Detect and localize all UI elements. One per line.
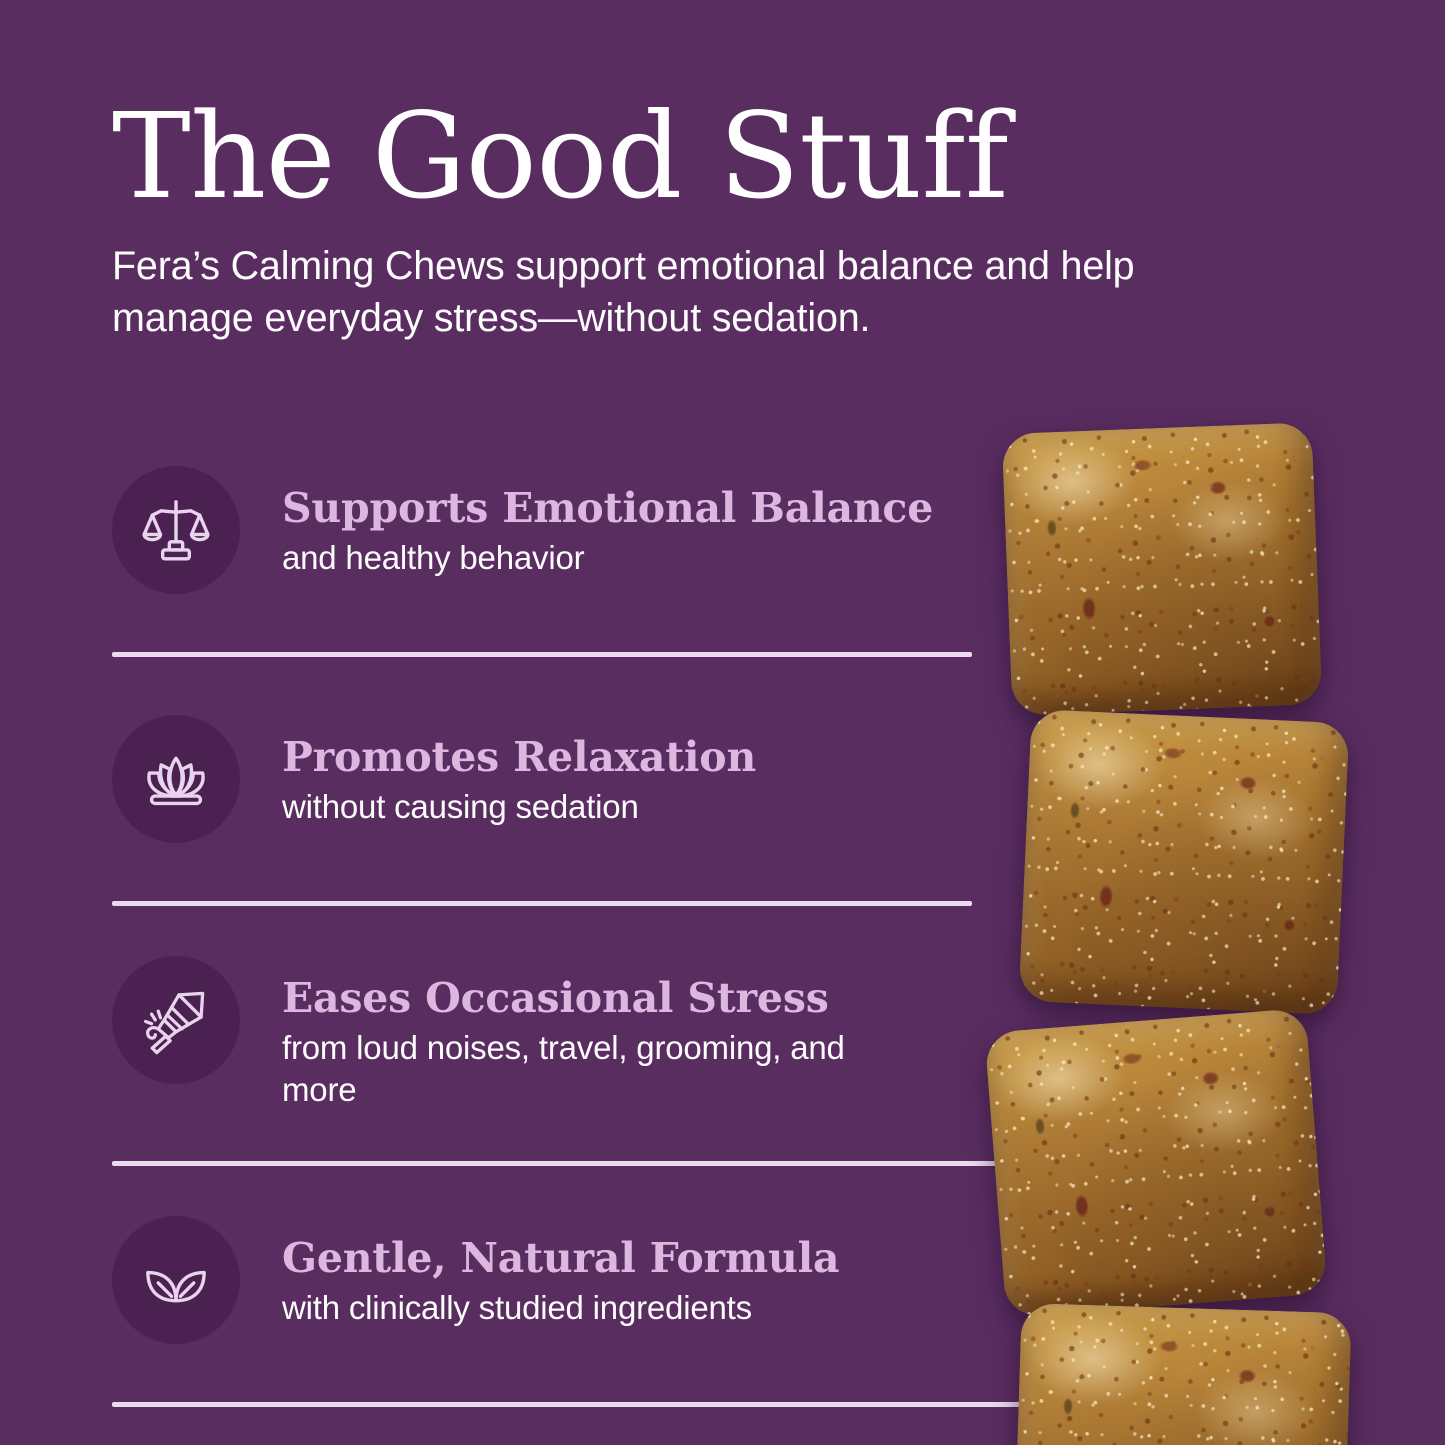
benefit-title: Promotes Relaxation	[282, 735, 756, 781]
page-subtitle: Fera’s Calming Chews support emotional b…	[112, 240, 1172, 345]
benefit-title: Gentle, Natural Formula	[282, 1236, 839, 1282]
benefit-subtitle: from loud noises, travel, grooming, and …	[282, 1027, 882, 1111]
firework-rocket-icon-badge	[112, 956, 240, 1084]
divider-4	[112, 1402, 1032, 1407]
lotus-flower-icon	[139, 742, 213, 816]
benefit-text: Promotes Relaxation without causing seda…	[282, 715, 756, 828]
header: The Good Stuff Fera’s Calming Chews supp…	[112, 96, 1242, 345]
leaves-icon-badge	[112, 1216, 240, 1344]
benefit-subtitle: without causing sedation	[282, 786, 756, 828]
leaves-icon	[139, 1243, 213, 1317]
page-title: The Good Stuff	[112, 96, 1242, 218]
benefit-text: Gentle, Natural Formula with clinically …	[282, 1216, 839, 1329]
balance-scale-icon	[139, 493, 213, 567]
balance-scale-icon-badge	[112, 466, 240, 594]
chew-piece	[1002, 422, 1323, 716]
benefit-title: Eases Occasional Stress	[282, 976, 882, 1022]
good-stuff-infographic: The Good Stuff Fera’s Calming Chews supp…	[0, 0, 1445, 1445]
benefit-subtitle: and healthy behavior	[282, 537, 922, 579]
benefit-subtitle: with clinically studied ingredients	[282, 1287, 839, 1329]
benefit-title: Supports Emotional Balance	[282, 486, 922, 532]
chew-piece	[1019, 709, 1350, 1015]
benefit-text: Supports Emotional Balance and healthy b…	[282, 466, 922, 579]
chew-piece	[1012, 1303, 1351, 1445]
lotus-flower-icon-badge	[112, 715, 240, 843]
benefit-text: Eases Occasional Stress from loud noises…	[282, 956, 882, 1111]
chew-piece	[984, 1008, 1327, 1318]
stacked-calming-chews-photo	[975, 420, 1375, 1445]
firework-rocket-icon	[139, 983, 213, 1057]
